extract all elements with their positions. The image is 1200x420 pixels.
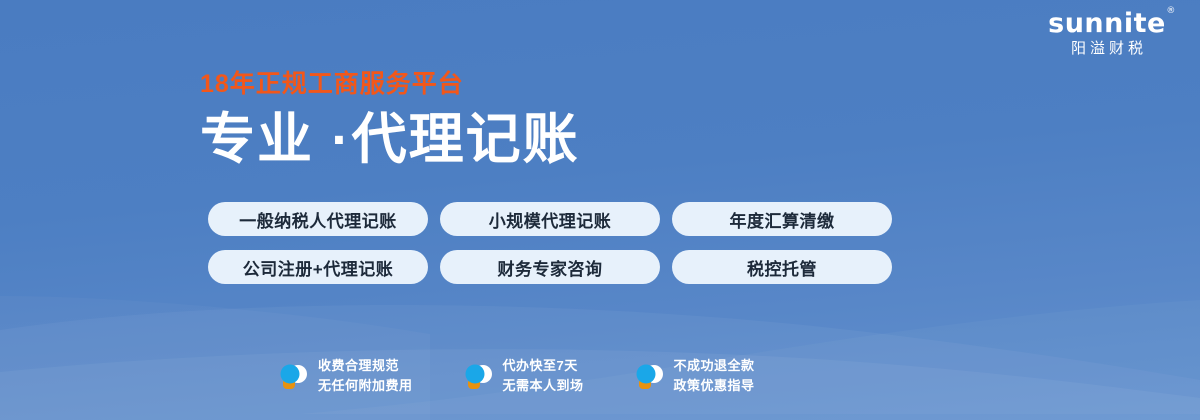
feature-line-2: 无任何附加费用 xyxy=(318,376,413,396)
brand-logo: sunnite ® 阳溢财税 xyxy=(1042,10,1172,58)
feature-line-1: 不成功退全款 xyxy=(674,356,755,376)
feature-list: 收费合理规范 无任何附加费用 代办快至7天 无需本人到场 不成功退全款 xyxy=(276,356,755,396)
overlapping-circles-icon xyxy=(632,359,666,393)
service-pill-grid: 一般纳税人代理记账 小规模代理记账 年度汇算清缴 公司注册+代理记账 财务专家咨… xyxy=(208,202,904,284)
feature-text-block: 不成功退全款 政策优惠指导 xyxy=(674,356,755,396)
service-pill-row: 一般纳税人代理记账 小规模代理记账 年度汇算清缴 xyxy=(208,202,904,236)
hero-tagline: 18年正规工商服务平台 xyxy=(200,72,580,97)
feature-line-2: 无需本人到场 xyxy=(503,376,584,396)
feature-item-speed: 代办快至7天 无需本人到场 xyxy=(461,356,584,396)
service-pill-row: 公司注册+代理记账 财务专家咨询 税控托管 xyxy=(208,250,904,284)
logo-wordmark: sunnite ® xyxy=(1048,10,1166,38)
service-pill-tax-control-custody[interactable]: 税控托管 xyxy=(672,250,892,284)
promo-banner: sunnite ® 阳溢财税 18年正规工商服务平台 专业 ·代理记账 一般纳税… xyxy=(0,0,1200,420)
service-pill-company-registration[interactable]: 公司注册+代理记账 xyxy=(208,250,428,284)
service-pill-finance-consulting[interactable]: 财务专家咨询 xyxy=(440,250,660,284)
feature-text-block: 代办快至7天 无需本人到场 xyxy=(503,356,584,396)
hero-headline: 专业 ·代理记账 xyxy=(200,111,580,169)
feature-line-1: 收费合理规范 xyxy=(318,356,413,376)
logo-chinese-name: 阳溢财税 xyxy=(1042,41,1172,58)
overlapping-circles-icon xyxy=(276,359,310,393)
feature-line-2: 政策优惠指导 xyxy=(674,376,755,396)
hero-text-block: 18年正规工商服务平台 专业 ·代理记账 xyxy=(200,72,580,169)
logo-wordmark-text: sunnite xyxy=(1048,8,1166,39)
overlapping-circles-icon xyxy=(461,359,495,393)
service-pill-small-scale[interactable]: 小规模代理记账 xyxy=(440,202,660,236)
registered-trademark-icon: ® xyxy=(1166,7,1176,16)
feature-item-pricing: 收费合理规范 无任何附加费用 xyxy=(276,356,413,396)
service-pill-annual-settlement[interactable]: 年度汇算清缴 xyxy=(672,202,892,236)
feature-text-block: 收费合理规范 无任何附加费用 xyxy=(318,356,413,396)
feature-line-1: 代办快至7天 xyxy=(503,356,584,376)
service-pill-general-taxpayer[interactable]: 一般纳税人代理记账 xyxy=(208,202,428,236)
feature-item-guarantee: 不成功退全款 政策优惠指导 xyxy=(632,356,755,396)
